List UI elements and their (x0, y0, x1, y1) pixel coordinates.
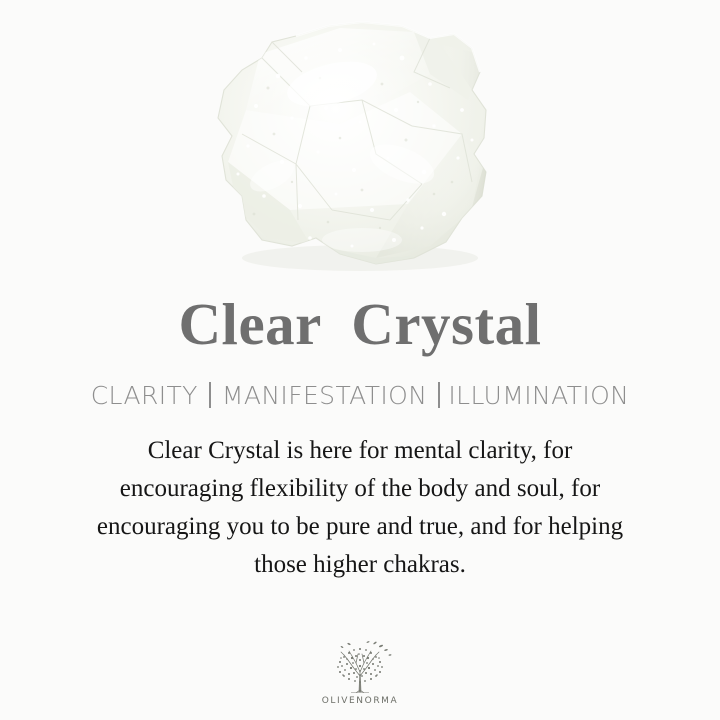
keyword-clarity: CLARITY (91, 383, 198, 408)
keyword-list: CLARITY MANIFESTATION ILLUMINATION (91, 382, 630, 408)
description-line: encouraging you to be pure and true, and… (40, 508, 680, 546)
brand-logo: OLIVENORMA (0, 638, 720, 706)
keyword-illumination: ILLUMINATION (448, 383, 629, 408)
brand-name: OLIVENORMA (322, 697, 399, 706)
olive-tree-icon (323, 638, 397, 696)
clear-quartz-crystal-icon (0, 0, 720, 282)
keyword-manifestation: MANIFESTATION (222, 383, 428, 408)
page-title: Clear Crystal (178, 295, 541, 354)
keyword-separator (438, 382, 440, 408)
description-line: encouraging flexibility of the body and … (40, 470, 680, 508)
product-info-card: Clear Crystal CLARITY MANIFESTATION ILLU… (0, 0, 720, 720)
description-text: Clear Crystal is here for mental clarity… (40, 432, 680, 584)
keyword-separator (209, 382, 211, 408)
description-line: Clear Crystal is here for mental clarity… (40, 432, 680, 470)
description-line: those higher chakras. (40, 546, 680, 584)
product-image (0, 0, 720, 282)
